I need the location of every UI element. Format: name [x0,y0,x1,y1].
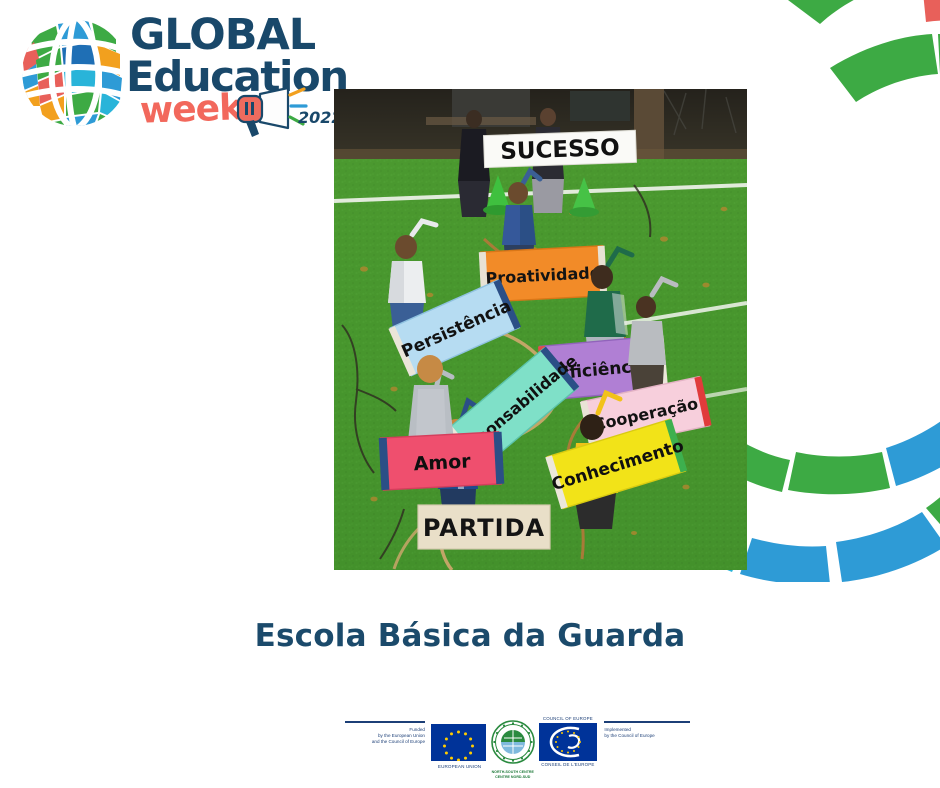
coe-flag-icon [539,723,597,761]
page-title: Escola Básica da Guarda [0,618,940,654]
logo-line-week: week [139,90,242,130]
council-of-europe-logo: COUNCIL OF EUROPE CONSEIL DE [537,712,598,767]
nsc-label-line2: CENTRE NORD-SUD [488,775,537,779]
funded-line-3: and the Council of Europe [345,739,425,745]
implemented-by-block: Implemented by the Council of Europe [598,712,695,739]
poster-canvas: GLOBAL Education week [0,0,940,788]
funding-footer: Funded by the European Union and the Cou… [345,712,695,774]
coe-label-bottom: CONSEIL DE L'EUROPE [537,762,598,767]
logo-line-global: GLOBAL [130,14,315,57]
sign-text-partida: PARTIDA [423,514,545,542]
global-education-week-logo: GLOBAL Education week [12,8,342,138]
event-photo: SUCESSO [334,89,747,570]
implemented-line-2: by the Council of Europe [604,733,695,739]
sign-text-sucesso: SUCESSO [500,135,620,165]
funded-by-block: Funded by the European Union and the Cou… [345,712,425,746]
european-union-logo: EUROPEAN UNION [431,712,488,769]
nsc-label-line1: NORTH-SOUTH CENTRE [488,770,537,774]
globe-icon [16,14,134,132]
logo-wordmark: GLOBAL Education week [130,8,345,138]
eu-label: EUROPEAN UNION [431,764,488,769]
north-south-centre-logo: NORTH-SOUTH CENTRE CENTRE NORD-SUD [488,712,537,780]
eu-flag-icon [431,724,486,761]
north-south-centre-icon [491,720,535,764]
rule-right [604,721,690,723]
rule-left [345,721,425,723]
sign-text-amor: Amor [413,450,472,475]
coe-label-top: COUNCIL OF EUROPE [537,716,598,721]
